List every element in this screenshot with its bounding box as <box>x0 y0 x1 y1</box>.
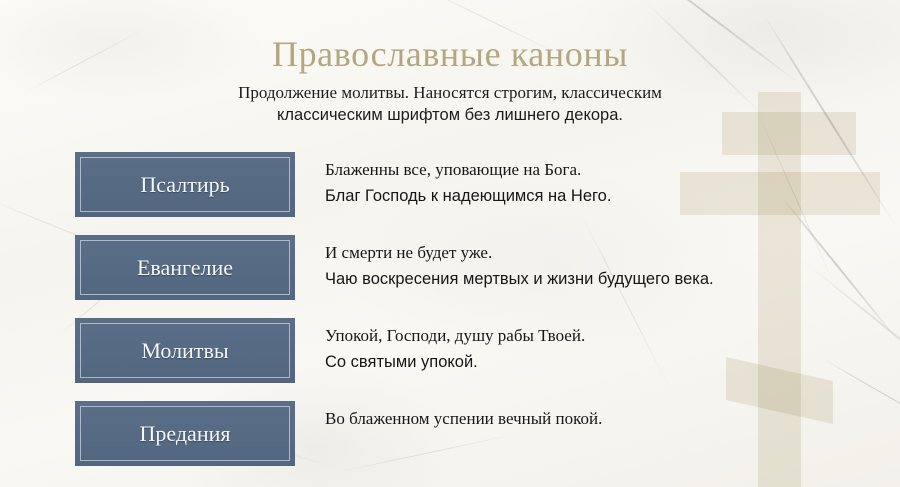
canon-label-box-psaltir[interactable]: Псалтирь <box>75 152 295 217</box>
canon-quote-line-1: Упокой, Господи, душу рабы Твоей. <box>325 322 900 349</box>
canon-row: Молитвы Упокой, Господи, душу рабы Твоей… <box>0 318 900 383</box>
canon-quote-block: Блаженны все, уповающие на Бога. Благ Го… <box>325 152 900 210</box>
canon-label: Молитвы <box>141 338 228 364</box>
slide-header: Православные каноны Продолжение молитвы.… <box>0 33 900 127</box>
canon-label: Евангелие <box>137 255 233 281</box>
slide-subtitle: Продолжение молитвы. Наносятся строгим, … <box>0 81 900 127</box>
canon-label: Предания <box>140 421 231 447</box>
subtitle-line-2: классическим шрифтом без лишнего декора. <box>0 104 900 127</box>
canon-quote-block: Во блаженном успении вечный покой. <box>325 401 900 432</box>
canon-quote-block: Упокой, Господи, душу рабы Твоей. Со свя… <box>325 318 900 376</box>
page-title: Православные каноны <box>0 33 900 75</box>
canon-row: Евангелие И смерти не будет уже. Чаю вос… <box>0 235 900 300</box>
canon-label-box-evangelie[interactable]: Евангелие <box>75 235 295 300</box>
canon-label: Псалтирь <box>140 172 229 198</box>
canon-rows: Псалтирь Блаженны все, уповающие на Бога… <box>0 152 900 484</box>
canon-quote-line-2: Благ Господь к надеющимся на Него. <box>325 183 900 210</box>
canon-quote-line-1: Во блаженном успении вечный покой. <box>325 405 900 432</box>
slide-canvas: Православные каноны Продолжение молитвы.… <box>0 0 900 487</box>
canon-quote-line-2: Со святыми упокой. <box>325 349 900 376</box>
canon-label-box-molitvy[interactable]: Молитвы <box>75 318 295 383</box>
canon-quote-line-1: Блаженны все, уповающие на Бога. <box>325 156 900 183</box>
canon-quote-block: И смерти не будет уже. Чаю воскресения м… <box>325 235 900 293</box>
canon-row: Псалтирь Блаженны все, уповающие на Бога… <box>0 152 900 217</box>
canon-row: Предания Во блаженном успении вечный пок… <box>0 401 900 466</box>
canon-quote-line-1: И смерти не будет уже. <box>325 239 900 266</box>
canon-quote-line-2: Чаю воскресения мертвых и жизни будущего… <box>325 266 900 293</box>
canon-label-box-predaniya[interactable]: Предания <box>75 401 295 466</box>
subtitle-line-1: Продолжение молитвы. Наносятся строгим, … <box>0 81 900 104</box>
